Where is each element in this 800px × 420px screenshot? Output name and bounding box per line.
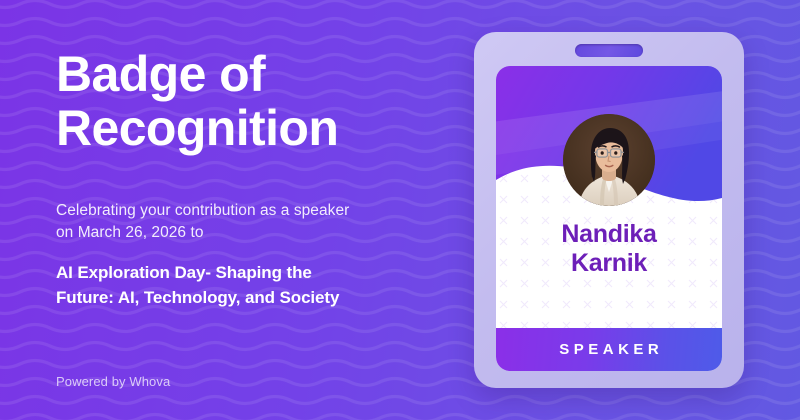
badge-lanyard-slot-icon <box>575 44 643 57</box>
attendee-name: Nandika Karnik <box>504 220 714 278</box>
subtitle-line-1: Celebrating your contribution as a speak… <box>56 200 436 222</box>
page-title-line-1: Badge of <box>56 48 456 102</box>
page-title-line-2: Recognition <box>56 102 456 156</box>
event-title-line-2: Future: AI, Technology, and Society <box>56 286 446 311</box>
page-title: Badge of Recognition <box>56 48 456 155</box>
role-badge: SPEAKER <box>496 328 722 371</box>
attendee-name-line-1: Nandika <box>504 220 714 249</box>
badge-card: Nandika Karnik SPEAKER <box>496 66 722 371</box>
event-title-line-1: AI Exploration Day- Shaping the <box>56 261 446 286</box>
event-title: AI Exploration Day- Shaping the Future: … <box>56 261 446 310</box>
powered-by-label: Powered by Whova <box>56 374 170 389</box>
avatar <box>563 114 655 206</box>
badge-of-recognition-graphic: Badge of Recognition Celebrating your co… <box>0 0 800 420</box>
attendee-name-line-2: Karnik <box>504 249 714 278</box>
copy-block: Badge of Recognition Celebrating your co… <box>56 0 456 420</box>
subtitle-text: Celebrating your contribution as a speak… <box>56 200 436 244</box>
role-label: SPEAKER <box>555 341 664 358</box>
subtitle-line-2: on March 26, 2026 to <box>56 222 436 244</box>
badge-holder: Nandika Karnik SPEAKER <box>474 32 744 388</box>
